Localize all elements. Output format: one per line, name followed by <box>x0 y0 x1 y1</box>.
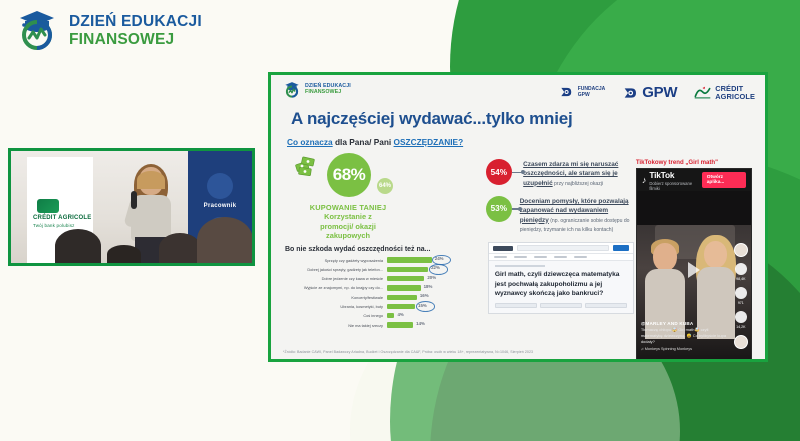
bar-value-label: 4% <box>397 312 403 317</box>
photo-audience-2 <box>159 233 201 263</box>
highlight-caption: KUPOWANIE TANIEJ Korzystanie z promocji/… <box>293 203 403 240</box>
article-nav-item[interactable] <box>554 256 567 258</box>
article-nav <box>489 254 633 261</box>
bar-label: Wyjście ze znajomymi, np. do knajpy czy … <box>283 285 387 290</box>
bar-label: Ubrania, kosmetyki, buty <box>283 304 387 309</box>
slide-header: DZIEŃ EDUKACJI FINANSOWEJ FUNDACJA <box>283 81 755 107</box>
bar-track: 15% <box>387 304 461 309</box>
bar-fill <box>387 285 421 290</box>
bar-track: 16% <box>387 295 461 300</box>
stat-text-1-small: przy najbliższej okazji <box>553 181 603 187</box>
connector-line-2 <box>512 208 520 209</box>
tiktok-brand: ♪ TikTok Dobierz sponsorowane filmiki <box>642 170 702 191</box>
highlight-stat: 68% 64% <box>327 153 482 199</box>
article-screenshot[interactable]: Girl math, czyli dziewczęca matematyka j… <box>488 242 634 314</box>
like-count: 98,4K <box>736 277 745 281</box>
photo-audience-1 <box>55 229 101 263</box>
subtitle-highlight-1: Co oznacza <box>287 137 333 147</box>
article-site-logo-icon <box>493 246 513 251</box>
bar-fill <box>387 257 432 262</box>
bar-label: Coś innego <box>283 313 387 318</box>
article-nav-item[interactable] <box>534 256 547 258</box>
share-count: 14,2K <box>736 325 745 329</box>
bar-label: Dobre jedzenie czy kawa w mieście <box>283 276 387 281</box>
bar-track: 4% <box>387 313 461 318</box>
connector-line-1 <box>512 172 523 173</box>
photo-banner-brand: CRÉDIT AGRICOLE Twój bank polubisz <box>33 215 91 228</box>
brand-logo: DZIEŃ EDUKACJI FINANSOWEJ <box>14 8 202 54</box>
share-icon[interactable] <box>735 311 747 323</box>
middle-column: 54% Czasem zdarza mi się naruszać oszczę… <box>482 151 634 362</box>
article-search-input[interactable] <box>517 245 609 251</box>
highlight-body-3: zakupowych <box>293 231 403 240</box>
highlight-heading: KUPOWANIE TANIEJ <box>293 203 403 212</box>
stat-value-2: 53% <box>486 196 512 222</box>
right-column: TikTokowy trend „Girl math" ♪ TikTok Dob… <box>634 151 755 362</box>
tiktok-app-name: TikTok <box>649 170 701 180</box>
bar-fill <box>387 322 413 327</box>
stat-row-2: 53% Doceniam pomysły, które pozwalają za… <box>486 196 634 234</box>
avatar[interactable] <box>734 243 748 257</box>
stat-text-2: Doceniam pomysły, które pozwalają zapano… <box>520 196 634 234</box>
bar-highlight-ring <box>429 264 448 275</box>
bar-fill <box>387 276 424 281</box>
bar-value-label: 18% <box>424 284 433 289</box>
left-column: 68% 64% KUPOWANIE TANIEJ Korzystanie z p… <box>283 151 482 362</box>
highlight-small-value: 64% <box>377 178 393 194</box>
subtitle-middle: dla Pana/ Pani <box>333 137 394 147</box>
article-nav-item[interactable] <box>514 256 527 258</box>
bar-track: 14% <box>387 322 461 327</box>
bar-track: 22% <box>387 267 461 272</box>
bar-fill <box>387 313 394 318</box>
article-share-chips <box>495 303 627 308</box>
tiktok-video[interactable]: 98,4K 971 14,2K @MARLEY AND KUBA Tłumacz… <box>637 191 751 362</box>
bar-fill <box>387 304 415 309</box>
graduation-cap-chart-logo-icon <box>283 81 301 99</box>
presentation-slide: DZIEŃ EDUKACJI FINANSOWEJ FUNDACJA <box>268 72 768 362</box>
highlight-big-value: 68% <box>327 153 371 197</box>
bar-label: Dobrej jakości sprzęty, gadżety jak tele… <box>283 267 387 272</box>
brand-line-2: FINANSOWEJ <box>69 31 202 49</box>
article-headline: Girl math, czyli dziewczęca matematyka j… <box>495 270 627 298</box>
tiktok-open-app-button[interactable]: Otwórz aplika... <box>702 172 746 187</box>
bar-label: Koncerty/festiwale <box>283 295 387 300</box>
credit-agricole-mark-icon <box>694 86 711 99</box>
photo-banner-tagline: Twój bank polubisz <box>33 223 91 228</box>
backdrop-label: Pracownik <box>188 203 252 209</box>
play-icon[interactable] <box>688 262 700 278</box>
photo-audience-4 <box>107 245 141 263</box>
share-chip[interactable] <box>540 303 582 308</box>
bar-value-label: 14% <box>416 321 425 326</box>
speaker-photo: Pracownik CRÉDIT AGRICOLE Twój bank polu… <box>8 148 255 266</box>
graduation-cap-chart-logo-icon <box>14 8 60 54</box>
stat-row-1: 54% Czasem zdarza mi się naruszać oszczę… <box>486 159 634 188</box>
slide-brand-line-2: FINANSOWEJ <box>305 90 351 96</box>
disc-icon[interactable] <box>734 335 748 349</box>
highlight-body-2: promocji/ okazji <box>293 222 403 231</box>
bar-highlight-ring <box>416 301 435 312</box>
bar-track: 18% <box>387 285 461 290</box>
bar-label: Sprzęty czy gadżety wyposażenia <box>283 258 387 263</box>
comment-icon[interactable] <box>735 287 747 299</box>
bar-value-label: 20% <box>427 275 436 280</box>
credit-agricole-logo-icon <box>37 199 59 213</box>
bar-chart: Sprzęty czy gadżety wyposażenia24%Dobrej… <box>283 256 482 329</box>
bar-row: Dobrej jakości sprzęty, gadżety jak tele… <box>283 265 482 273</box>
slide-footnote: *Źródło: Badanie CAWI, Panel Badawczy Ar… <box>283 350 757 354</box>
fundacja-gpw-logo: FUNDACJA GPW <box>559 85 606 101</box>
tiktok-section-title: TikTokowy trend „Girl math" <box>636 159 755 166</box>
bar-row: Coś innego4% <box>283 312 482 320</box>
slide-title: A najczęściej wydawać...tylko mniej <box>291 109 755 129</box>
share-chip[interactable] <box>495 303 537 308</box>
article-nav-item[interactable] <box>494 256 507 258</box>
ca-line-2: AGRICOLE <box>715 93 755 101</box>
bar-fill <box>387 295 417 300</box>
article-search-button[interactable] <box>613 245 629 251</box>
car-roof <box>637 191 751 225</box>
brand-line-1: DZIEŃ EDUKACJI <box>69 13 202 31</box>
bar-label: Nie ma takiej rzeczy <box>283 323 387 328</box>
slide-subtitle: Co oznacza dla Pana/ Pani OSZCZĘDZANIE? <box>287 137 755 147</box>
gpw-mark-icon <box>559 85 575 101</box>
bar-track: 20% <box>387 276 461 281</box>
chart-title: Bo nie szkoda wydać oszczędności też na.… <box>285 246 482 253</box>
article-topbar <box>489 243 633 254</box>
bar-row: Sprzęty czy gadżety wyposażenia24% <box>283 256 482 264</box>
heart-icon[interactable] <box>735 263 747 275</box>
article-nav-item[interactable] <box>574 256 587 258</box>
banknotes-icon <box>295 155 325 179</box>
tiktok-screenshot[interactable]: ♪ TikTok Dobierz sponsorowane filmiki Ot… <box>636 168 752 362</box>
fundacja-line-2: GPW <box>578 93 606 99</box>
tiktok-action-rail: 98,4K 971 14,2K <box>734 243 748 349</box>
bar-track: 24% <box>387 257 461 262</box>
photo-banner-brand-text: CRÉDIT AGRICOLE <box>33 215 91 221</box>
share-chip[interactable] <box>585 303 627 308</box>
bar-row: Nie ma takiej rzeczy14% <box>283 321 482 329</box>
bar-row: Wyjście ze znajomymi, np. do knajpy czy … <box>283 284 482 292</box>
tiktok-topbar: ♪ TikTok Dobierz sponsorowane filmiki Ot… <box>637 169 751 191</box>
tiktok-sponsor-text: Dobierz sponsorowane filmiki <box>649 181 701 191</box>
brand-text: DZIEŃ EDUKACJI FINANSOWEJ <box>69 13 202 49</box>
subtitle-highlight-2: OSZCZĘDZANIE? <box>394 137 464 147</box>
bar-row: Dobre jedzenie czy kawa w mieście20% <box>283 275 482 283</box>
microphone-icon <box>131 191 137 209</box>
music-note-icon: ♪ <box>642 175 647 185</box>
slide-brand-logo: DZIEŃ EDUKACJI FINANSOWEJ <box>283 81 351 99</box>
stat-value-1: 54% <box>486 159 512 185</box>
credit-agricole-logo: CRÉDIT AGRICOLE <box>694 85 755 101</box>
highlight-body-1: Korzystanie z <box>293 212 403 221</box>
comment-count: 971 <box>738 301 744 305</box>
tiktok-username[interactable]: @MARLEY AND KUBA <box>641 321 727 326</box>
bar-fill <box>387 267 428 272</box>
bar-value-label: 16% <box>420 293 429 298</box>
gpw-wordmark: GPW <box>642 84 677 101</box>
partner-logos: FUNDACJA GPW GPW <box>559 81 755 101</box>
article-kicker <box>495 265 545 267</box>
photo-audience-3 <box>197 217 253 263</box>
gpw-logo: GPW <box>622 84 677 101</box>
bar-row: Ubrania, kosmetyki, buty15% <box>283 302 482 310</box>
tiktok-caption: @MARLEY AND KUBA Tłumaczę chłopu 🤯 Girl … <box>641 321 727 352</box>
stat-text-1: Czasem zdarza mi się naruszać oszczędnoś… <box>523 159 634 188</box>
tiktok-description: Tłumaczę chłopu 🤯 Girl math🤯 czyli matem… <box>641 327 727 345</box>
bar-row: Koncerty/festiwale16% <box>283 293 482 301</box>
gpw-mark-icon <box>622 85 638 101</box>
